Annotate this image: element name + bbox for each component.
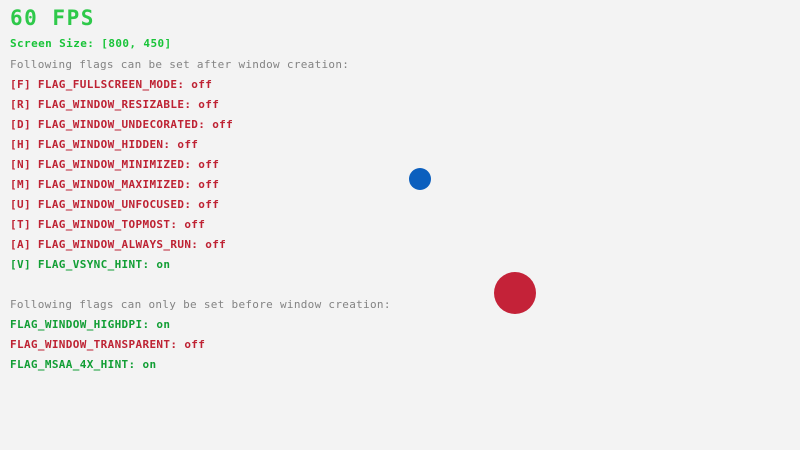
flag-line-flag-window-topmost[interactable]: [T] FLAG_WINDOW_TOPMOST: off [10,219,205,230]
flag-line-flag-window-always-run[interactable]: [A] FLAG_WINDOW_ALWAYS_RUN: off [10,239,226,250]
flag-line-flag-vsync-hint[interactable]: [V] FLAG_VSYNC_HINT: on [10,259,170,270]
app-canvas[interactable]: 60 FPS Screen Size: [800, 450] Following… [0,0,800,450]
screen-size-label: Screen Size: [800, 450] [10,38,172,49]
flag-line-flag-window-undecorated[interactable]: [D] FLAG_WINDOW_UNDECORATED: off [10,119,233,130]
flag-line-flag-window-highdpi[interactable]: FLAG_WINDOW_HIGHDPI: on [10,319,170,330]
blue-circle [409,168,431,190]
flag-line-flag-window-hidden[interactable]: [H] FLAG_WINDOW_HIDDEN: off [10,139,198,150]
flag-line-flag-window-transparent[interactable]: FLAG_WINDOW_TRANSPARENT: off [10,339,205,350]
flag-line-flag-msaa-4x-hint[interactable]: FLAG_MSAA_4X_HINT: on [10,359,156,370]
flag-line-flag-window-maximized[interactable]: [M] FLAG_WINDOW_MAXIMIZED: off [10,179,219,190]
runtime-flags-header: Following flags can be set after window … [10,59,349,70]
fps-counter: 60 FPS [10,8,95,29]
flag-line-flag-window-minimized[interactable]: [N] FLAG_WINDOW_MINIMIZED: off [10,159,219,170]
flag-line-flag-window-resizable[interactable]: [R] FLAG_WINDOW_RESIZABLE: off [10,99,219,110]
creation-flags-header: Following flags can only be set before w… [10,299,391,310]
red-circle [494,272,536,314]
flag-line-flag-fullscreen-mode[interactable]: [F] FLAG_FULLSCREEN_MODE: off [10,79,212,90]
flag-line-flag-window-unfocused[interactable]: [U] FLAG_WINDOW_UNFOCUSED: off [10,199,219,210]
